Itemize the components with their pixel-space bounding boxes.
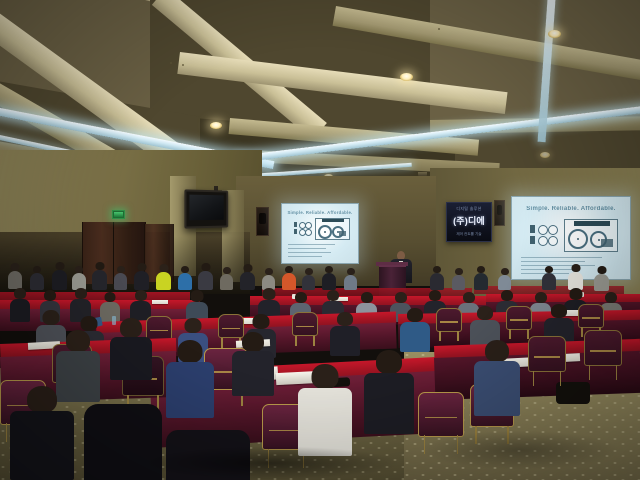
attendee	[302, 268, 315, 290]
banquet-chair[interactable]	[528, 336, 566, 386]
recessed-downlight	[548, 30, 561, 38]
attendee	[364, 350, 414, 434]
attendee	[330, 312, 360, 356]
slide-dial	[538, 225, 548, 235]
slide-dial	[548, 236, 558, 246]
wall-mounted-display[interactable]	[184, 189, 228, 228]
attendee	[10, 386, 74, 480]
attendee	[282, 266, 296, 290]
recessed-downlight	[400, 73, 413, 81]
slide-bullet	[288, 256, 321, 257]
slide-title: Simple. Reliable. Affordable.	[282, 210, 358, 215]
slide-display-bar	[574, 221, 610, 226]
attendee	[30, 266, 44, 290]
attendee	[220, 267, 233, 290]
attendee	[452, 268, 465, 290]
slide-bullet	[521, 261, 585, 262]
banquet-chair[interactable]	[506, 306, 532, 339]
slide-display-bar	[322, 219, 344, 222]
conference-hall-photo: 디지털 솔루션 (주)디에 제어 컨트롤 기술 Simple. Reliable…	[0, 0, 640, 480]
attendee	[322, 266, 336, 290]
floor-shadow	[140, 446, 400, 480]
projection-screen-left: Simple. Reliable. Affordable.	[281, 203, 359, 264]
wall-speaker	[494, 200, 505, 226]
slide-bullet	[521, 265, 594, 266]
attendee	[542, 266, 556, 290]
banner-top-text: 디지털 솔루션	[447, 206, 491, 212]
attendee	[92, 262, 107, 290]
attendee	[166, 340, 214, 418]
attendee	[52, 262, 67, 290]
attendee	[114, 266, 127, 290]
attendee	[8, 263, 22, 289]
banquet-chair[interactable]	[584, 330, 622, 380]
attendee	[110, 318, 152, 380]
attendee	[498, 268, 511, 290]
attendee	[178, 266, 192, 290]
slide-dial	[548, 225, 558, 235]
exit-sign	[112, 210, 125, 219]
slide-dial	[305, 229, 312, 236]
banquet-chair[interactable]	[436, 308, 462, 341]
slide-bullet	[521, 257, 601, 258]
attendee	[474, 266, 488, 290]
wall-speaker	[256, 207, 269, 236]
banquet-chair[interactable]	[292, 312, 318, 346]
attendee	[474, 340, 520, 416]
slide-block	[339, 231, 346, 236]
attendee	[298, 364, 352, 456]
slide-title: Simple. Reliable. Affordable.	[512, 206, 630, 212]
attendee	[344, 268, 357, 290]
slide-dial	[538, 236, 548, 246]
attendee	[10, 288, 30, 322]
slide-block	[294, 222, 297, 227]
attendee	[262, 268, 275, 290]
slide-knob	[568, 229, 588, 249]
attendee	[198, 263, 213, 290]
recessed-downlight	[210, 122, 222, 129]
floor-shadow	[420, 430, 620, 470]
attendee	[72, 266, 86, 290]
attendee	[568, 264, 583, 290]
attendee	[134, 263, 149, 290]
slide-left: Simple. Reliable. Affordable.	[282, 204, 358, 263]
ceiling-fixture-dot	[182, 64, 184, 66]
attendee	[430, 266, 444, 290]
recessed-downlight	[540, 152, 550, 158]
slide-block	[530, 225, 535, 233]
attendee	[156, 264, 171, 290]
attendee	[240, 264, 255, 290]
handout	[152, 300, 168, 304]
slide-dial	[305, 222, 312, 229]
slide-bullet	[288, 252, 331, 253]
slide-block	[294, 229, 297, 234]
slide-knob	[318, 225, 332, 239]
slide-block	[530, 236, 535, 244]
ceiling-fixture-dot	[438, 28, 440, 30]
banner-company-name: (주)디에	[447, 214, 491, 227]
attendee	[232, 332, 274, 396]
ceiling-fixture-dot	[170, 62, 172, 64]
slide-block	[601, 239, 613, 247]
attendee	[400, 308, 430, 352]
slide-bullet	[288, 248, 326, 249]
slide-bullet	[288, 244, 335, 245]
attendee	[594, 266, 609, 291]
banner-sub-text: 제어 컨트롤 기술	[447, 232, 491, 237]
korean-banner: 디지털 솔루션 (주)디에 제어 컨트롤 기술	[446, 202, 492, 242]
